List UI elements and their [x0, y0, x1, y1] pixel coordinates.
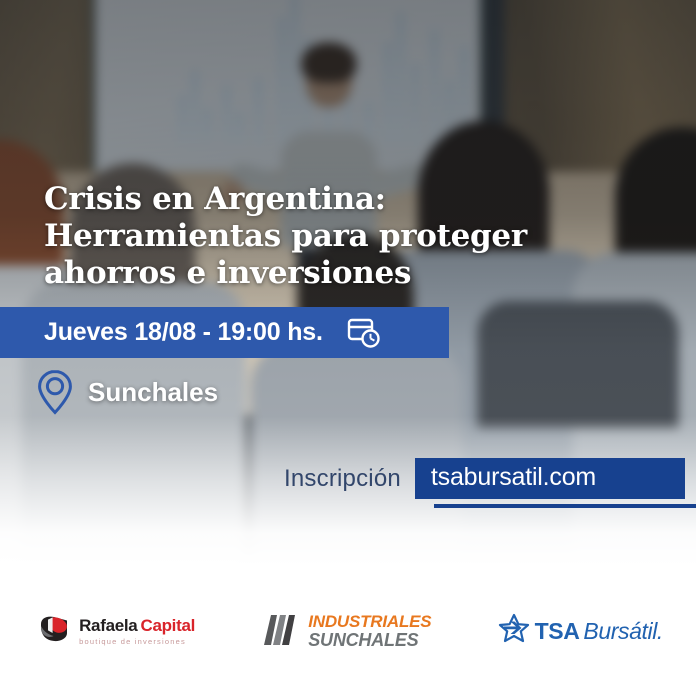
logo-rafaela-capital: RafaelaCapital boutique de inversiones — [37, 614, 195, 649]
sponsor-logo-bar: RafaelaCapital boutique de inversiones I… — [0, 566, 696, 696]
rafaela-word-one: Rafaela — [79, 616, 137, 635]
logo-tsa-bursatil: TSABursátil. — [498, 613, 663, 650]
event-poster: Crisis en Argentina: Herramientas para p… — [0, 0, 696, 696]
logo-industriales-sunchales: INDUSTRIALES SUNCHALES — [261, 611, 431, 652]
tsa-word-one: TSA — [535, 618, 580, 644]
slanted-bars-icon — [261, 611, 301, 652]
industriales-word-two: SUNCHALES — [308, 631, 431, 649]
star-arrow-icon — [498, 613, 530, 650]
page-title: Crisis en Argentina: Herramientas para p… — [44, 181, 604, 292]
signup-url-box[interactable]: tsabursatil.com — [415, 458, 685, 499]
map-pin-icon — [34, 367, 76, 417]
signup-row: Inscripción tsabursatil.com — [284, 458, 685, 499]
rafaela-word-two: Capital — [140, 616, 195, 635]
location-row: Sunchales — [34, 367, 218, 417]
rafaela-name: RafaelaCapital — [79, 616, 195, 635]
signup-label: Inscripción — [284, 465, 401, 493]
headline-line-3: ahorros e inversiones — [44, 255, 604, 292]
industriales-word-one: INDUSTRIALES — [308, 613, 431, 630]
rafaela-tagline: boutique de inversiones — [79, 638, 195, 646]
cube-swoosh-icon — [37, 614, 71, 649]
date-text: Jueves 18/08 - 19:00 hs. — [44, 318, 323, 347]
headline-line-2: Herramientas para proteger — [44, 218, 604, 255]
industriales-wordmark: INDUSTRIALES SUNCHALES — [308, 613, 431, 649]
location-text: Sunchales — [88, 377, 218, 408]
tsa-word-two: Bursátil. — [583, 618, 662, 644]
calendar-clock-icon — [347, 317, 381, 349]
date-banner: Jueves 18/08 - 19:00 hs. — [0, 307, 449, 358]
headline-line-1: Crisis en Argentina: — [44, 181, 604, 218]
signup-url: tsabursatil.com — [431, 463, 596, 491]
signup-underline — [434, 504, 696, 508]
rafaela-wordmark: RafaelaCapital boutique de inversiones — [79, 617, 195, 646]
tsa-wordmark: TSABursátil. — [535, 618, 663, 645]
